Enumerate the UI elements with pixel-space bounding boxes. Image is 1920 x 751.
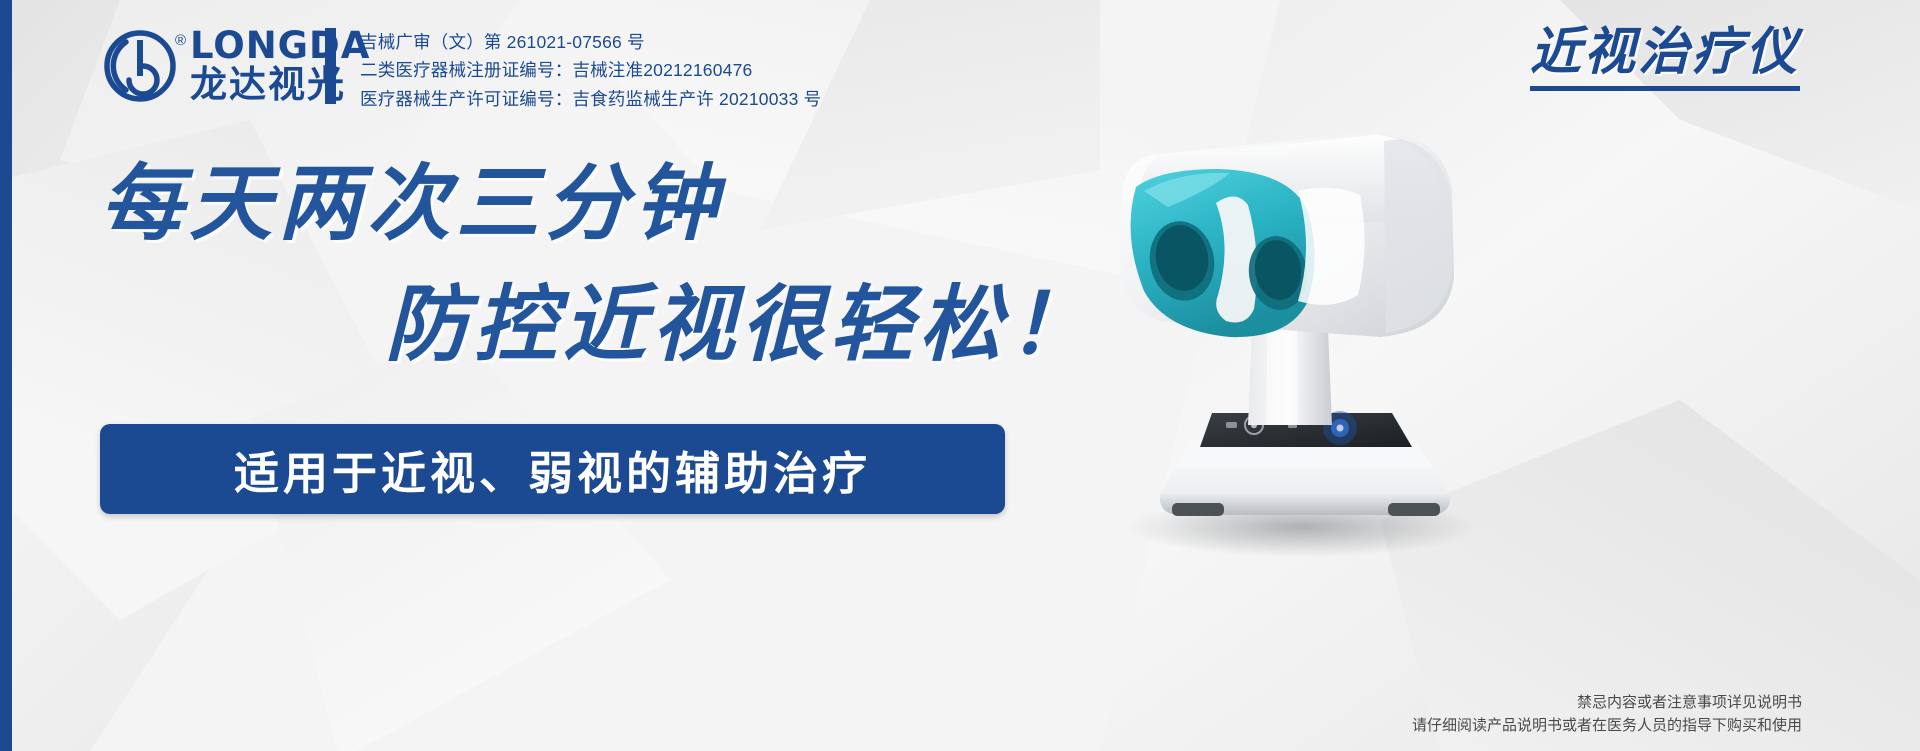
product-title-text: 近视治疗仪 (1530, 24, 1800, 80)
regulatory-line: 二类医疗器械注册证编号：吉械注准20212160476 (360, 56, 920, 84)
headline-line-1: 每天两次三分钟 (100, 162, 723, 245)
headline-line-2: 防控近视很轻松！ (385, 283, 1097, 366)
indication-text: 适用于近视、弱视的辅助治疗 (234, 437, 871, 502)
disclaimer-line: 禁忌内容或者注意事项详见说明书 (1412, 691, 1802, 714)
background-facet (250, 330, 870, 751)
regulatory-line: 吉械广审（文）第 261021-07566 号 (360, 28, 920, 56)
registered-trademark-icon: ® (175, 32, 186, 49)
brand-name-latin: LONGDA (190, 27, 370, 65)
advertisement-banner: ® LONGDA 龙达视光 吉械广审（文）第 261021-07566 号 二类… (0, 0, 1920, 751)
background-facet (0, 0, 420, 751)
regulatory-info: 吉械广审（文）第 261021-07566 号 二类医疗器械注册证编号：吉械注准… (360, 28, 920, 113)
brand-name-chinese: 龙达视光 (190, 66, 370, 105)
product-title: 近视治疗仪 (1530, 24, 1800, 91)
header-divider (325, 28, 336, 104)
left-accent-bar (0, 0, 12, 751)
disclaimer: 禁忌内容或者注意事项详见说明书 请仔细阅读产品说明书或者在医务人员的指导下购买和… (1412, 691, 1802, 738)
myopia-therapy-device-image (1040, 95, 1560, 565)
product-title-underline (1530, 86, 1800, 91)
indication-banner: 适用于近视、弱视的辅助治疗 (100, 424, 1005, 514)
regulatory-line: 医疗器械生产许可证编号：吉食药监械生产许 20210033 号 (360, 85, 920, 113)
longda-circle-mark-icon: ® (100, 26, 184, 106)
disclaimer-line: 请仔细阅读产品说明书或者在医务人员的指导下购买和使用 (1412, 714, 1802, 737)
